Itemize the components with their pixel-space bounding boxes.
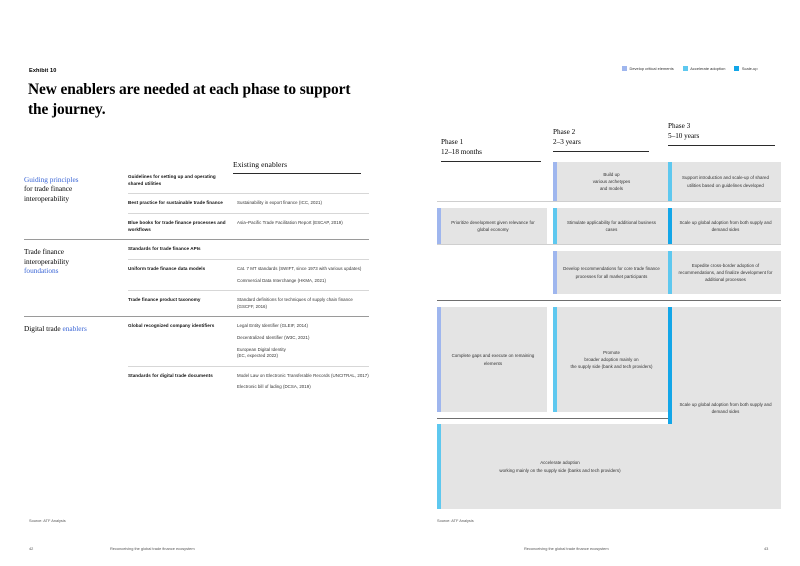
roadmap-box: Scale up global adoption from both suppl… [668, 208, 781, 244]
roadmap-box: Complete gaps and execute on remaining e… [437, 307, 547, 412]
phase-name: Phase 2 [553, 128, 575, 136]
phase-rule [441, 161, 541, 162]
legend-swatch-icon [734, 66, 739, 71]
existing-enabler-item: Legal Entity Identifier (GLEIF, 2014) [237, 323, 369, 330]
group-title-plain: foundations [24, 266, 124, 275]
row-enabler-name: Standards for trade finance APIs [128, 240, 237, 259]
legend-swatch-icon [683, 66, 688, 71]
footer-text-right: Reconceiving the global trade finance ec… [524, 546, 609, 551]
footer-text-left: Reconceiving the global trade finance ec… [110, 546, 195, 551]
group-title: Trade finance interoperabilityfoundation… [24, 240, 128, 316]
roadmap-box-text: Scale up global adoption from both suppl… [668, 216, 781, 236]
roadmap-box-text: Expedite cross-border adoption of recomm… [668, 259, 781, 286]
group-title: Digital trade enablers [24, 317, 128, 397]
roadmap-box-text: Scale up global adoption from both suppl… [668, 398, 781, 418]
page-number-left: 42 [29, 546, 33, 551]
row-enabler-name: Blue books for trade finance processes a… [128, 214, 237, 239]
phase-header: Phase 22–3 years [553, 128, 649, 152]
roadmap-box-text: Stimulate applicability for additional b… [553, 216, 668, 236]
existing-enabler-item: Electronic bill of lading (DCSA, 2019) [237, 384, 369, 391]
group-rows: Guidelines for setting up and operating … [128, 168, 369, 239]
roadmap-box: Expedite cross-border adoption of recomm… [668, 251, 781, 294]
row-enabler-name: Global recognized company identifiers [128, 317, 237, 365]
roadmap-box-accent-bar [553, 162, 557, 201]
row-existing-enablers: Sustainability in export finance (ICC, 2… [237, 194, 369, 213]
phase-duration: 12–18 months [441, 148, 482, 156]
roadmap-box-accent-bar [668, 162, 672, 201]
roadmap-box-accent-bar [437, 208, 441, 244]
roadmap-box-text: Prioritize development given relevance f… [437, 216, 547, 236]
existing-enabler-item: European Digital Identity (EC, expected … [237, 347, 369, 360]
source-note-right: Source: ATF Analysis [437, 518, 474, 523]
table-row: Global recognized company identifiersLeg… [128, 317, 369, 365]
row-enabler-name: Best practice for sustainable trade fina… [128, 194, 237, 213]
phase-header: Phase 35–10 years [668, 122, 775, 146]
roadmap-box-accent-bar [437, 424, 441, 509]
legend-item: Accelerate adoption [683, 66, 726, 71]
legend-label: Scale-up [742, 66, 758, 71]
page-number-right: 43 [764, 546, 768, 551]
existing-enabler-item: Commercial Data Interchange (HKMA, 2021) [237, 278, 369, 285]
existing-enabler-item: Model Law on Electronic Transferable Rec… [237, 373, 369, 380]
table-row: Best practice for sustainable trade fina… [128, 193, 369, 213]
section-divider [437, 244, 781, 245]
table-row: Blue books for trade finance processes a… [128, 213, 369, 239]
enabler-group: Digital trade enablersGlobal recognized … [24, 316, 369, 397]
phase-title: Phase 22–3 years [553, 128, 649, 147]
roadmap-box: Scale up global adoption from both suppl… [668, 307, 781, 509]
roadmap-box: Promote broader adoption mainly on the s… [553, 307, 668, 412]
row-existing-enablers: Model Law on Electronic Transferable Rec… [237, 367, 369, 397]
group-title-highlight: Guiding principles [24, 175, 124, 184]
row-existing-enablers [237, 168, 369, 193]
existing-enabler-item: Standard definitions for techniques of s… [237, 297, 369, 310]
roadmap-box-accent-bar [668, 208, 672, 244]
roadmap-box-text: Build up various archetypes and models [583, 168, 639, 195]
row-existing-enablers: Standard definitions for techniques of s… [237, 291, 369, 316]
roadmap-box-accent-bar [553, 208, 557, 244]
page-title: New enablers are needed at each phase to… [28, 80, 373, 119]
row-existing-enablers: Legal Entity Identifier (GLEIF, 2014)Dec… [237, 317, 369, 365]
roadmap-box-text: Support introduction and scale-up of sha… [668, 171, 781, 191]
table-row: Standards for digital trade documentsMod… [128, 366, 369, 397]
phase-title: Phase 35–10 years [668, 122, 775, 141]
enablers-table: Guiding principlesfor trade finance inte… [24, 168, 369, 397]
roadmap-box-accent-bar [553, 251, 557, 294]
legend-swatch-icon [622, 66, 627, 71]
section-divider [437, 418, 681, 419]
existing-enabler-item: Sustainability in export finance (ICC, 2… [237, 200, 369, 207]
table-row: Trade finance product taxonomyStandard d… [128, 290, 369, 316]
roadmap-box-text: Promote broader adoption mainly on the s… [561, 346, 661, 373]
roadmap-box: Build up various archetypes and models [553, 162, 668, 201]
row-enabler-name: Standards for digital trade documents [128, 367, 237, 397]
roadmap-box-accent-bar [668, 251, 672, 294]
roadmap-box-text: Accelerate adoption working mainly on th… [489, 456, 628, 476]
phase-rule [553, 151, 649, 152]
exhibit-label: Exhibit 10 [29, 68, 56, 74]
group-title: Guiding principlesfor trade finance inte… [24, 168, 128, 239]
legend-label: Accelerate adoption [690, 66, 725, 71]
table-row: Standards for trade finance APIs [128, 240, 369, 259]
group-title-plain: for trade finance interoperability [24, 184, 124, 203]
phase-header: Phase 112–18 months [441, 138, 541, 162]
phase-duration: 5–10 years [668, 132, 699, 140]
group-title-plain: Digital trade [24, 324, 63, 333]
row-existing-enablers: Asia–Pacific Trade Facilitation Report (… [237, 214, 369, 239]
roadmap-box: Support introduction and scale-up of sha… [668, 162, 781, 201]
group-rows: Standards for trade finance APIsUniform … [128, 240, 369, 316]
enabler-group: Guiding principlesfor trade finance inte… [24, 168, 369, 239]
phase-name: Phase 1 [441, 138, 463, 146]
phase-rule [668, 145, 775, 146]
roadmap-box-accent-bar [553, 307, 557, 412]
legend-item: Develop critical elements [622, 66, 674, 71]
phase-roadmap: Phase 112–18 monthsPhase 22–3 yearsPhase… [400, 0, 800, 566]
roadmap-box: Prioritize development given relevance f… [437, 208, 547, 244]
left-page: Exhibit 10 New enablers are needed at ea… [0, 0, 400, 566]
section-divider [437, 300, 781, 301]
phase-name: Phase 3 [668, 122, 690, 130]
row-enabler-name: Trade finance product taxonomy [128, 291, 237, 316]
right-page: Phase 112–18 monthsPhase 22–3 yearsPhase… [400, 0, 800, 566]
phase-duration: 2–3 years [553, 138, 581, 146]
group-rows: Global recognized company identifiersLeg… [128, 317, 369, 397]
roadmap-box-text: Develop recommendations for core trade f… [553, 262, 668, 282]
roadmap-box: Stimulate applicability for additional b… [553, 208, 668, 244]
section-divider [437, 201, 781, 202]
roadmap-box: Develop recommendations for core trade f… [553, 251, 668, 294]
roadmap-box: Accelerate adoption working mainly on th… [437, 424, 681, 509]
row-existing-enablers: Cat. 7 MT standards (SWIFT, since 1973 w… [237, 260, 369, 290]
row-existing-enablers [237, 240, 369, 259]
table-row: Guidelines for setting up and operating … [128, 168, 369, 193]
existing-enabler-item: Decentralized Identifier (W3C, 2021) [237, 335, 369, 342]
row-enabler-name: Uniform trade finance data models [128, 260, 237, 290]
group-title-highlight: enablers [63, 324, 87, 333]
legend-item: Scale-up [734, 66, 757, 71]
roadmap-box-text: Complete gaps and execute on remaining e… [437, 349, 547, 369]
row-enabler-name: Guidelines for setting up and operating … [128, 168, 237, 193]
enabler-group: Trade finance interoperabilityfoundation… [24, 239, 369, 316]
roadmap-box-accent-bar [437, 307, 441, 412]
exhibit-spread: Exhibit 10 New enablers are needed at ea… [0, 0, 800, 566]
phase-title: Phase 112–18 months [441, 138, 541, 157]
table-row: Uniform trade finance data modelsCat. 7 … [128, 259, 369, 290]
legend: Develop critical elementsAccelerate adop… [622, 66, 758, 71]
legend-label: Develop critical elements [630, 66, 674, 71]
existing-enabler-item: Cat. 7 MT standards (SWIFT, since 1973 w… [237, 266, 369, 273]
source-note-left: Source: ATF Analysis [29, 518, 66, 523]
existing-enabler-item: Asia–Pacific Trade Facilitation Report (… [237, 220, 369, 227]
group-title-highlight: Trade finance interoperability [24, 247, 124, 266]
